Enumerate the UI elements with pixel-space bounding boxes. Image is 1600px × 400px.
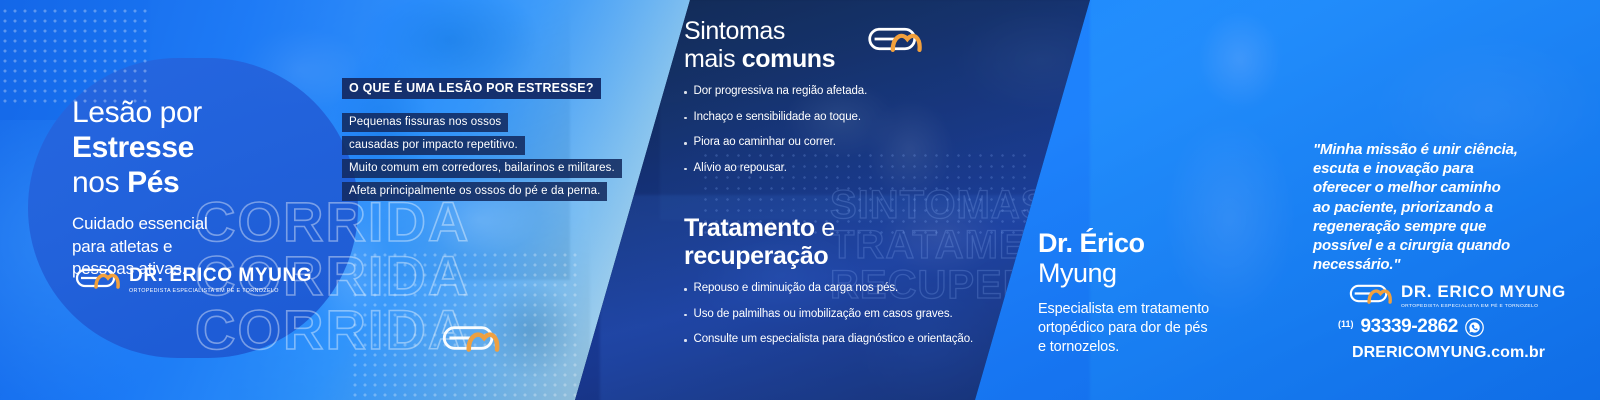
callout-item: causadas por impacto repetitivo. xyxy=(342,136,525,155)
role-line: ortopédico para dor de pés xyxy=(1038,319,1253,338)
list-item: Repouso e diminuição da carga nos pés. xyxy=(684,283,973,295)
brand-logo-lockup: DR. ERICO MYUNG ORTOPEDISTA ESPECIALISTA… xyxy=(1348,280,1566,312)
em-monogram-logo-icon xyxy=(74,264,120,297)
heading-line-1: Tratamento e xyxy=(684,215,973,243)
doctor-role: Especialista em tratamento ortopédico pa… xyxy=(1038,300,1253,357)
quote-line: escuta e inovação para xyxy=(1313,159,1563,178)
symptoms-list: Dor progressiva na região afetada. Incha… xyxy=(684,86,867,174)
list-item: Consulte um especialista para diagnóstic… xyxy=(684,334,973,346)
list-item: Alívio ao repousar. xyxy=(684,163,867,175)
bullet-dot-icon xyxy=(684,314,687,317)
callout-item: Pequenas fissuras nos ossos xyxy=(342,113,508,132)
list-item: Uso de palmilhas ou imobilização em caso… xyxy=(684,309,973,321)
doctor-name-line-2: Myung xyxy=(1038,258,1268,288)
em-monogram-logo-icon xyxy=(1348,280,1392,312)
list-item-label: Uso de palmilhas ou imobilização em caso… xyxy=(694,309,953,321)
phone-number: 93339-2862 xyxy=(1361,316,1458,338)
bullet-dot-icon xyxy=(684,288,687,291)
promotional-banner: CORRIDA CORRIDA CORRIDA Lesão por Estres… xyxy=(0,0,1600,400)
treatment-heading: Tratamento e recuperação xyxy=(684,215,973,270)
em-monogram-logo-icon xyxy=(440,320,500,361)
bullet-dot-icon xyxy=(684,117,687,120)
brand-text: DR. ERICO MYUNG ORTOPEDISTA ESPECIALISTA… xyxy=(129,266,312,294)
bullet-dot-icon xyxy=(684,142,687,145)
treatment-list: Repouso e diminuição da carga nos pés. U… xyxy=(684,283,973,346)
list-item: Inchaço e sensibilidade ao toque. xyxy=(684,112,867,124)
bullet-dot-icon xyxy=(684,339,687,342)
heading-line-2: mais comuns xyxy=(684,46,867,74)
symptoms-section: Sintomas mais comuns Dor progressiva na … xyxy=(684,18,867,188)
list-item-label: Consulte um especialista para diagnóstic… xyxy=(694,334,974,346)
treatment-section: Tratamento e recuperação Repouso e dimin… xyxy=(684,215,973,360)
role-line: e tornozelos. xyxy=(1038,338,1253,357)
bullet-dot-icon xyxy=(684,168,687,171)
list-item-label: Inchaço e sensibilidade ao toque. xyxy=(694,112,861,124)
brand-logo-lockup: DR. ERICO MYUNG ORTOPEDISTA ESPECIALISTA… xyxy=(74,264,312,297)
em-monogram-logo-icon xyxy=(866,22,922,61)
whatsapp-icon[interactable] xyxy=(1465,318,1484,337)
subtitle-line: Cuidado essencial xyxy=(72,213,332,235)
quote-line: oferecer o melhor caminho xyxy=(1313,178,1563,197)
panel-injury-intro: CORRIDA CORRIDA CORRIDA Lesão por Estres… xyxy=(0,0,690,400)
bullet-dot-icon xyxy=(684,91,687,94)
panel1-callout-list: O QUE É UMA LESÃO POR ESTRESSE? Pequenas… xyxy=(342,78,622,201)
page-title: Lesão por Estresse nos Pés xyxy=(72,96,332,200)
brand-tagline: ORTOPEDISTA ESPECIALISTA EM PÉ E TORNOZE… xyxy=(129,289,312,294)
phone-area-code: (11) xyxy=(1338,319,1354,329)
list-item-label: Dor progressiva na região afetada. xyxy=(694,86,868,98)
panel1-text-block: Lesão por Estresse nos Pés Cuidado essen… xyxy=(72,96,332,281)
quote-line: regeneração sempre que xyxy=(1313,217,1563,236)
list-item: Piora ao caminhar ou correr. xyxy=(684,137,867,149)
watermark-line: CORRIDA xyxy=(195,303,615,357)
heading-line-2: recuperação xyxy=(684,243,973,271)
brand-text: DR. ERICO MYUNG ORTOPEDISTA ESPECIALISTA… xyxy=(1401,283,1566,310)
brand-name: DR. ERICO MYUNG xyxy=(129,265,312,286)
title-line-3: nos Pés xyxy=(72,166,332,201)
callout-item: Muito comum em corredores, bailarinos e … xyxy=(342,159,622,178)
heading-line-1: Sintomas xyxy=(684,18,867,46)
list-item-label: Piora ao caminhar ou correr. xyxy=(694,137,836,149)
list-item: Dor progressiva na região afetada. xyxy=(684,86,867,98)
dot-grid-pattern-topleft xyxy=(0,6,150,106)
title-line-2: Estresse xyxy=(72,131,332,166)
brand-tagline: ORTOPEDISTA ESPECIALISTA EM PÉ E TORNOZE… xyxy=(1401,305,1566,310)
role-line: Especialista em tratamento xyxy=(1038,300,1253,319)
quote-line: necessário." xyxy=(1313,255,1563,274)
brand-name: DR. ERICO MYUNG xyxy=(1401,282,1566,301)
subtitle-line: para atletas e xyxy=(72,236,332,258)
doctor-name-line-1: Dr. Érico xyxy=(1038,228,1268,258)
list-item-label: Alívio ao repousar. xyxy=(694,163,787,175)
callout-heading: O QUE É UMA LESÃO POR ESTRESSE? xyxy=(342,78,601,99)
title-line-1: Lesão por xyxy=(72,96,332,131)
doctor-quote: "Minha missão é unir ciência, escuta e i… xyxy=(1313,140,1563,274)
quote-line: ao paciente, priorizando a xyxy=(1313,198,1563,217)
phone-contact[interactable]: (11) 93339-2862 xyxy=(1338,316,1484,338)
symptoms-heading: Sintomas mais comuns xyxy=(684,18,867,73)
quote-line: "Minha missão é unir ciência, xyxy=(1313,140,1563,159)
website-link[interactable]: DRERICOMYUNG.com.br xyxy=(1352,344,1545,362)
quote-line: possível e a cirurgia quando xyxy=(1313,236,1563,255)
callout-item: Afeta principalmente os ossos do pé e da… xyxy=(342,182,607,201)
doctor-name: Dr. Érico Myung xyxy=(1038,228,1268,288)
list-item-label: Repouso e diminuição da carga nos pés. xyxy=(694,283,899,295)
